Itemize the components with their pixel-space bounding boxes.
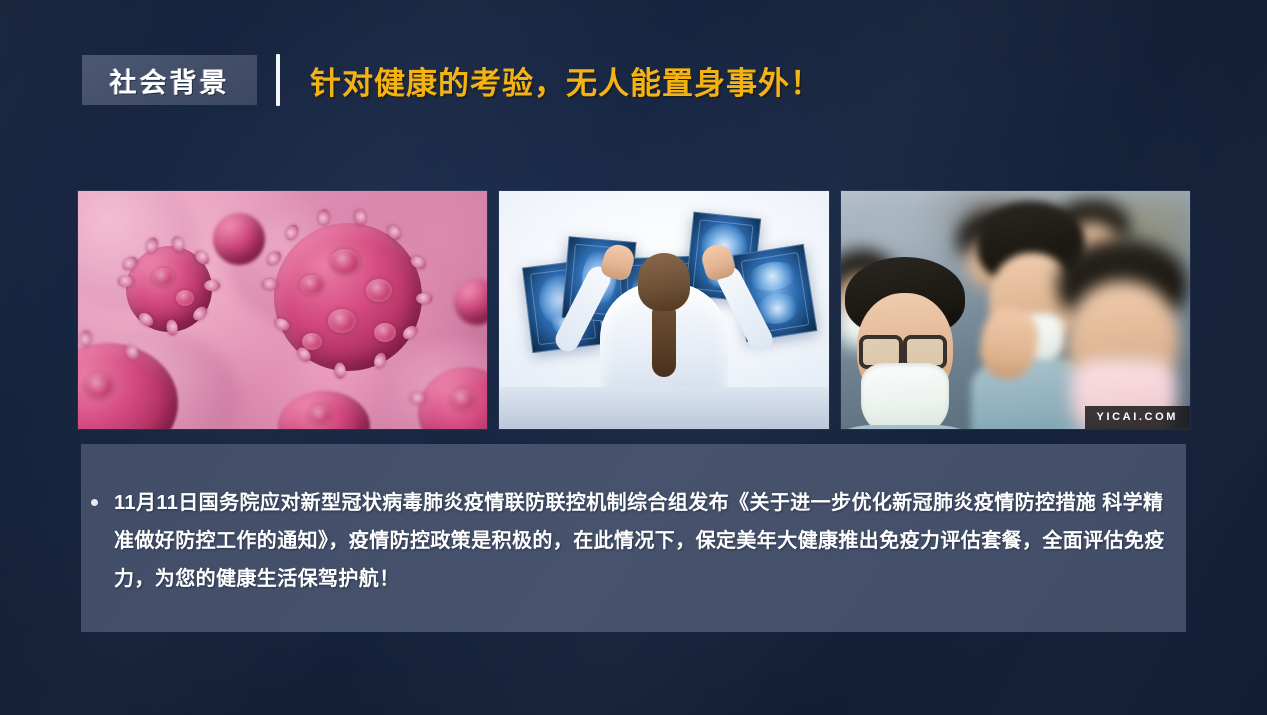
photo-row: YICAI.COM (78, 191, 1190, 429)
virus-particle-medium (126, 246, 212, 332)
virus-particle-small (213, 213, 265, 265)
virus-particle-foreground (278, 391, 370, 429)
bullet-row: 11月11日国务院应对新型冠状病毒肺炎疫情联防联控机制综合组发布《关于进一步优化… (81, 484, 1176, 598)
bullet-dot-icon (91, 499, 98, 506)
virus-particle-large (274, 223, 422, 371)
virus-particle-small (454, 279, 487, 325)
virus-particles-photo (78, 191, 487, 429)
virus-scene (78, 191, 487, 429)
image-watermark: YICAI.COM (1085, 406, 1190, 429)
doctor-xray-photo (499, 191, 829, 429)
slide-header: 社会背景 针对健康的考验，无人能置身事外！ (82, 55, 822, 105)
section-badge-label: 社会背景 (110, 61, 230, 100)
page-title: 针对健康的考验，无人能置身事外！ (310, 58, 822, 103)
doctor-head (638, 253, 690, 311)
xray-scene (499, 191, 829, 429)
section-badge: 社会背景 (82, 55, 257, 105)
slide-canvas: 社会背景 针对健康的考验，无人能置身事外！ (0, 0, 1267, 715)
body-text-panel: 11月11日国务院应对新型冠状病毒肺炎疫情联防联控机制综合组发布《关于进一步优化… (81, 444, 1186, 632)
masked-crowd-photo: YICAI.COM (841, 191, 1190, 429)
bullet-text: 11月11日国务院应对新型冠状病毒肺炎疫情联防联控机制综合组发布《关于进一步优化… (114, 484, 1176, 598)
crowd-scene: YICAI.COM (841, 191, 1190, 429)
header-divider (276, 54, 280, 106)
doctor-ponytail (652, 303, 676, 377)
studio-floor (499, 387, 829, 429)
